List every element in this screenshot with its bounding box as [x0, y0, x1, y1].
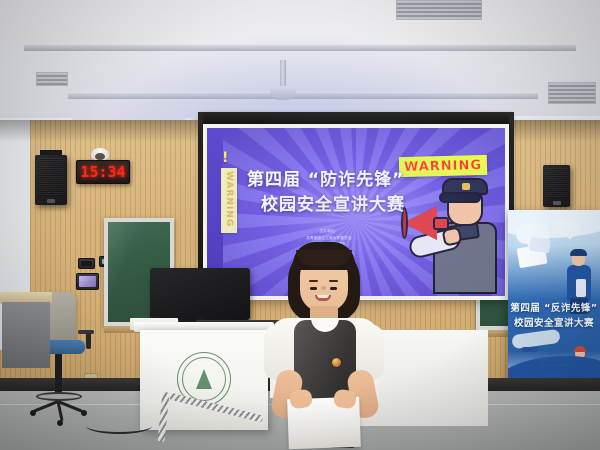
- banner-title-line1: 第四届 “反诈先锋”: [510, 303, 597, 314]
- slide-title-line1: 第四届 “防诈先锋”: [247, 170, 404, 190]
- card-illustration: [529, 237, 551, 254]
- slide-title: 第四届 “防诈先锋” 校园安全宣讲大赛: [247, 168, 447, 217]
- lecture-hall-photo: 15:34 ! WARNING WARNING: [0, 0, 600, 450]
- warning-vertical-strip: WARNING: [221, 168, 237, 233]
- wall-control-panel-small[interactable]: [78, 258, 95, 269]
- wall-touch-panel[interactable]: [76, 273, 99, 290]
- slide-title-line2: 校园安全宣讲大赛: [247, 193, 447, 218]
- banner-footer-4: 承办单位：: [546, 372, 562, 376]
- roll-up-banner: 第四届 “反诈先锋” 校园安全宣讲大赛 主办单位： 共青团浙江工商大学委员会 浙…: [508, 210, 600, 406]
- presenter-badge: [332, 358, 341, 367]
- speaker-bracket-left: [40, 150, 62, 155]
- clock-time: 15:34: [80, 163, 125, 181]
- banner-title: 第四届 “反诈先锋” 校园安全宣讲大赛: [508, 302, 600, 331]
- banner-footer-2: 浙江工商大学保卫处: [540, 363, 569, 367]
- exclamation-icon: !: [222, 150, 228, 166]
- power-cable: [86, 418, 152, 434]
- warning-vertical-text: WARNING: [224, 171, 234, 227]
- wall-led-clock: 15:34: [76, 160, 130, 184]
- slide-org-0: 主办单位：: [320, 229, 339, 233]
- speaker-right: [543, 165, 570, 207]
- banner-footer-0: 主办单位：: [546, 351, 562, 355]
- ceiling: [0, 0, 600, 128]
- podium-monitor: [150, 268, 250, 320]
- chair-post: [55, 354, 62, 394]
- student-presenter: [262, 240, 386, 450]
- side-desk-body: [2, 302, 50, 368]
- banner-title-line2: 校园安全宣讲大赛: [508, 317, 600, 332]
- banner-footer-1: 共青团浙江工商大学委员会: [535, 357, 573, 361]
- speaker-left: [35, 155, 67, 205]
- speech-bubble-right: [554, 218, 580, 234]
